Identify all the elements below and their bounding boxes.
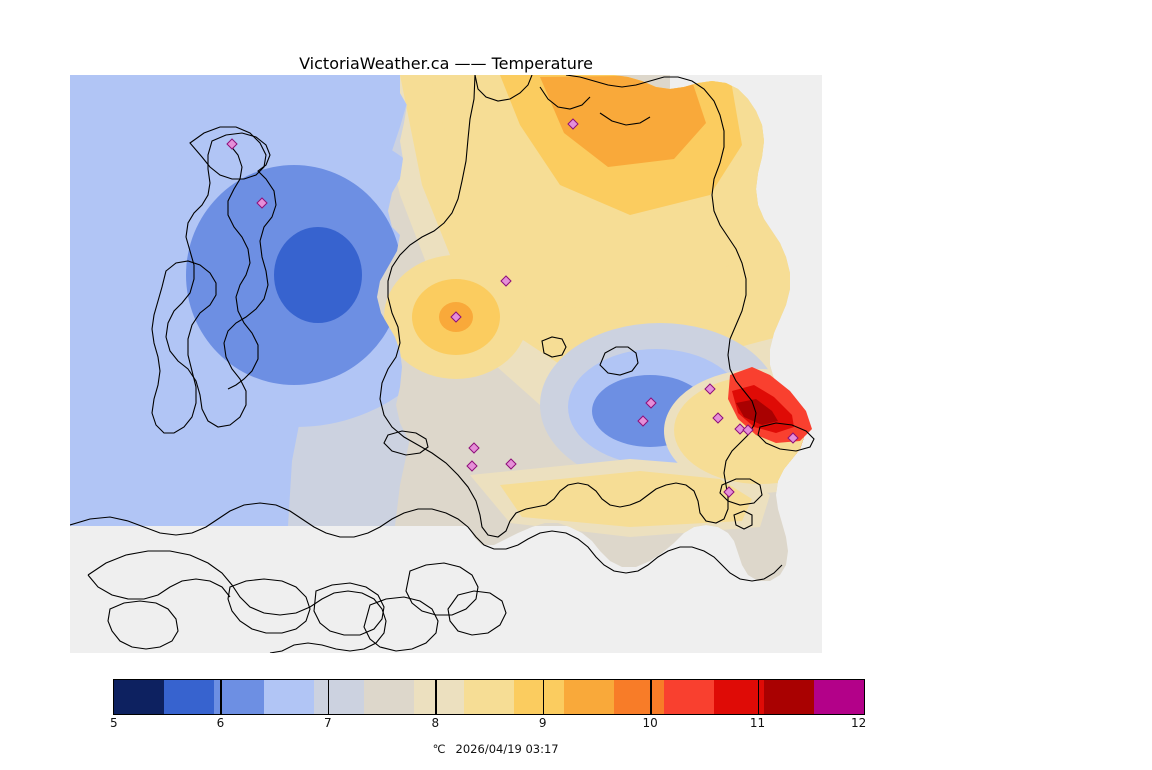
timestamp-label: 2026/04/19 03:17 [456,742,559,756]
temperature-contour-map[interactable] [70,75,822,653]
colorbar-band-4 [314,680,364,714]
colorbar-bands [113,679,865,715]
colorbar-tick-8 [435,679,437,715]
colorbar-band-13 [764,680,814,714]
colorbar-tick-11 [758,679,760,715]
temperature-map-panel[interactable] [70,75,822,653]
colorbar-band-10 [614,680,664,714]
page-title: VictoriaWeather.ca —— Temperature [299,54,593,73]
colorbar-legend[interactable]: 56789101112 [113,679,865,713]
colorbar-band-7 [464,680,514,714]
colorbar-tick-6 [220,679,222,715]
colorbar-tick-7 [328,679,330,715]
colorbar-band-6 [414,680,464,714]
weather-map-page: VictoriaWeather.ca —— Temperature [0,0,1152,768]
colorbar-band-3 [264,680,314,714]
colorbar-band-0 [114,680,164,714]
colorbar-footer: ℃2026/04/19 03:17 [113,728,865,770]
unit-label: ℃ [433,742,446,756]
colorbar-band-12 [714,680,764,714]
colorbar-band-14 [814,680,864,714]
colorbar-band-11 [664,680,714,714]
colorbar-band-8 [514,680,564,714]
colorbar-tick-10 [650,679,652,715]
colorbar-tick-9 [543,679,545,715]
colorbar-band-9 [564,680,614,714]
colorbar-band-5 [364,680,414,714]
page-title-wrap: VictoriaWeather.ca —— Temperature [70,54,822,73]
colorbar-band-1 [164,680,214,714]
